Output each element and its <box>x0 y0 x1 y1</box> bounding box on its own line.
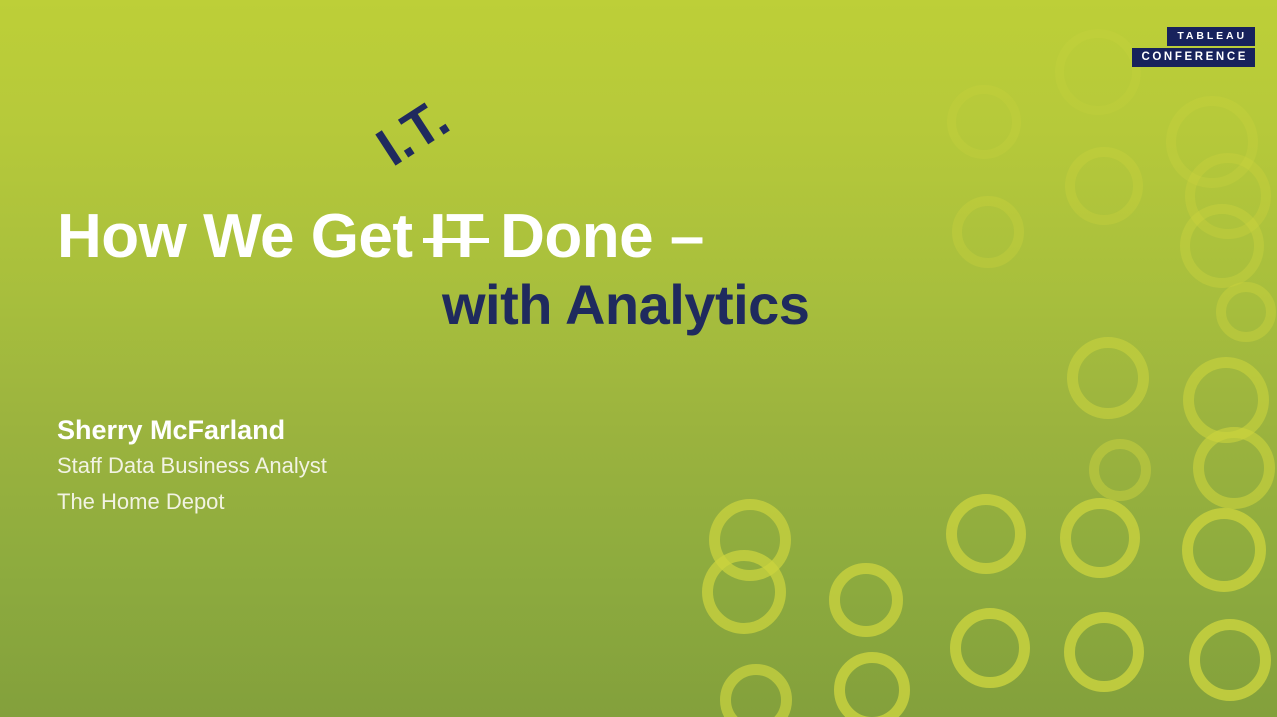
title-text-after: Done – <box>483 202 703 271</box>
decorative-ring <box>947 85 1021 159</box>
title-text-before: How We Get <box>57 202 429 271</box>
decorative-ring <box>1193 427 1275 509</box>
decorative-ring <box>952 196 1024 268</box>
decorative-ring <box>1216 282 1276 342</box>
speaker-organization: The Home Depot <box>57 484 327 520</box>
decorative-ring <box>829 563 903 637</box>
speaker-block: Sherry McFarland Staff Data Business Ana… <box>57 412 327 520</box>
decorative-ring <box>1065 147 1143 225</box>
decorative-ring <box>1064 612 1144 692</box>
speaker-role: Staff Data Business Analyst <box>57 448 327 484</box>
strikethrough-rule <box>423 238 489 243</box>
decorative-ring <box>1089 439 1151 501</box>
decorative-ring <box>946 494 1026 574</box>
title-struck-word-it: IT <box>429 205 483 268</box>
decorative-ring <box>834 652 910 717</box>
decorative-ring <box>1067 337 1149 419</box>
rotated-it-annotation: I.T. <box>368 91 458 176</box>
title-slide: TABLEAU CONFERENCE How We Get IT Done – … <box>0 0 1277 717</box>
title-block: How We Get IT Done – I.T. with Analytics <box>57 205 957 335</box>
tableau-conference-logo: TABLEAU CONFERENCE <box>1132 27 1255 67</box>
decorative-ring <box>1185 153 1271 239</box>
decorative-ring <box>950 608 1030 688</box>
decorative-ring <box>1183 357 1269 443</box>
decorative-ring <box>1180 204 1264 288</box>
decorative-ring <box>1189 619 1271 701</box>
decorative-ring <box>702 550 786 634</box>
speaker-name: Sherry McFarland <box>57 412 327 448</box>
decorative-ring <box>709 499 791 581</box>
title-line-1: How We Get IT Done – I.T. <box>57 205 957 268</box>
decorative-ring <box>1166 96 1258 188</box>
decorative-ring <box>1055 29 1141 115</box>
logo-line-tableau: TABLEAU <box>1167 27 1255 46</box>
decorative-rings-pattern <box>0 0 1277 717</box>
decorative-ring <box>1060 498 1140 578</box>
decorative-ring <box>720 664 792 717</box>
title-line-2: with Analytics <box>442 276 957 335</box>
logo-line-conference: CONFERENCE <box>1132 48 1255 68</box>
title-struck-text: IT <box>429 202 483 271</box>
decorative-ring <box>1182 508 1266 592</box>
